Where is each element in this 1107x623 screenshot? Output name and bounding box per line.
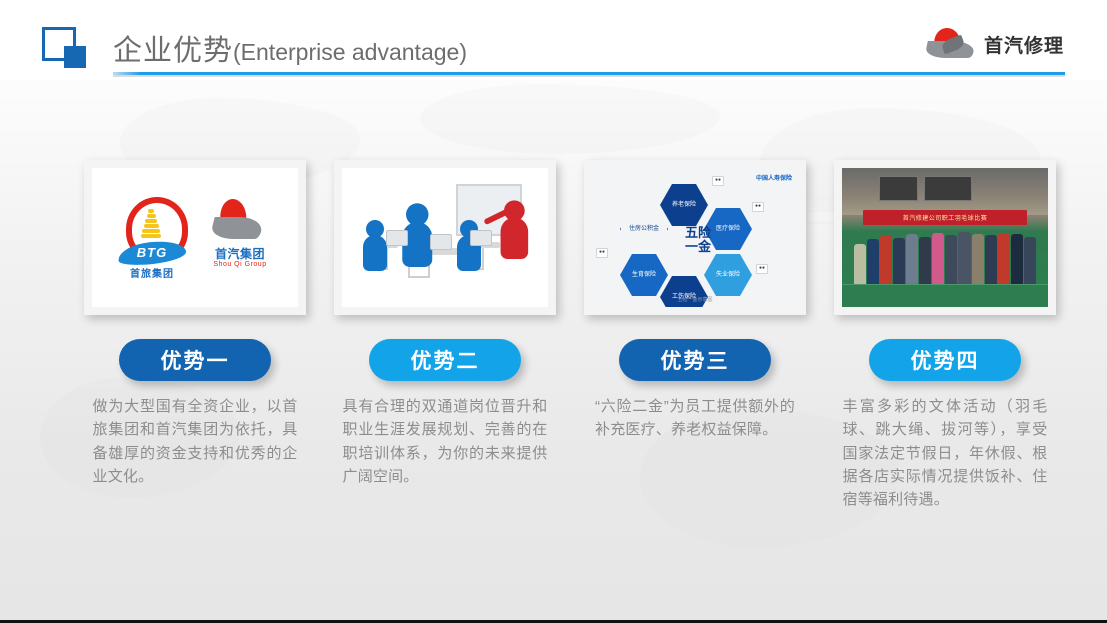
figure-student-2 bbox=[406, 203, 432, 267]
advantage-column-3: 中国人寿保险 住房公积金 养老保险 医疗保险 生育保险 bbox=[570, 160, 820, 442]
btg-cn-text: 首旅集团 bbox=[114, 265, 190, 280]
advantage-columns: BTG 首旅集团 首汽集团 Shou Qi Group 优势一 做为大型国有全资… bbox=[0, 160, 1107, 620]
event-banner: 首汽修建公司职工羽毛球比赛 bbox=[863, 210, 1028, 225]
brand-name: 首汽修理 bbox=[984, 31, 1064, 58]
hex-housing-fund: 住房公积金 bbox=[620, 208, 668, 250]
hex-center-label: 五险 一金 bbox=[670, 214, 726, 266]
header-underline-shadow bbox=[113, 75, 1065, 77]
page-title: 企业优势(Enterprise advantage) bbox=[113, 27, 467, 69]
photo-frame-1: BTG 首旅集团 首汽集团 Shou Qi Group bbox=[84, 160, 306, 315]
hex-footnote: 五险一金示意图 bbox=[592, 296, 798, 303]
shouqi-cn-text: 首汽集团 bbox=[204, 245, 276, 262]
btg-and-shouqi-group-logos-image: BTG 首旅集团 首汽集团 Shou Qi Group bbox=[92, 168, 298, 307]
advantage-body-1: 做为大型国有全资企业，以首旅集团和首汽集团为依托，具备雄厚的资金支持和优秀的企业… bbox=[93, 395, 298, 488]
advantage-body-3: “六险二金”为员工提供额外的补充医疗、养老权益保障。 bbox=[595, 395, 795, 442]
advantage-badge-4: 优势四 bbox=[869, 339, 1021, 381]
two-squares-icon bbox=[42, 27, 86, 69]
shouqi-group-logo: 首汽集团 Shou Qi Group bbox=[204, 195, 276, 281]
advantage-body-4: 丰富多彩的文体活动（羽毛球、跳大绳、拔河等），享受国家法定节假日，年休假、根据各… bbox=[843, 395, 1048, 511]
insurance-brand-text: 中国人寿保险 bbox=[756, 173, 792, 182]
btg-logo: BTG 首旅集团 bbox=[114, 195, 190, 281]
photo-frame-4: 首汽修建公司职工羽毛球比赛 bbox=[834, 160, 1056, 315]
page-title-en: (Enterprise advantage) bbox=[233, 39, 467, 65]
badminton-group-photo-image: 首汽修建公司职工羽毛球比赛 bbox=[842, 168, 1048, 307]
advantage-badge-2: 优势二 bbox=[369, 339, 521, 381]
training-classroom-image bbox=[342, 168, 548, 307]
five-insurances-one-fund-image: 中国人寿保险 住房公积金 养老保险 医疗保险 生育保险 bbox=[592, 168, 798, 307]
shouqi-sun-swoosh-logo-icon bbox=[926, 28, 974, 60]
photo-frame-2 bbox=[334, 160, 556, 315]
advantage-body-2: 具有合理的双通道岗位晋升和职业生涯发展规划、完善的在职培训体系，为你的未来提供广… bbox=[343, 395, 548, 488]
photo-frame-3: 中国人寿保险 住房公积金 养老保险 医疗保险 生育保险 bbox=[584, 160, 806, 315]
figure-student-1 bbox=[366, 220, 387, 271]
shouqi-en-text: Shou Qi Group bbox=[204, 261, 276, 268]
advantage-badge-3: 优势三 bbox=[619, 339, 771, 381]
advantage-column-1: BTG 首旅集团 首汽集团 Shou Qi Group 优势一 做为大型国有全资… bbox=[70, 160, 320, 488]
advantage-column-4: 首汽修建公司职工羽毛球比赛 bbox=[820, 160, 1070, 511]
slide: 企业优势(Enterprise advantage) 首汽修理 bbox=[0, 0, 1107, 623]
advantage-badge-1: 优势一 bbox=[119, 339, 271, 381]
slide-header: 企业优势(Enterprise advantage) 首汽修理 bbox=[0, 0, 1107, 80]
btg-abbr-text: BTG bbox=[128, 245, 176, 260]
brand-lockup: 首汽修理 bbox=[926, 28, 1064, 60]
figure-instructor bbox=[504, 200, 528, 259]
group-of-people bbox=[854, 226, 1035, 290]
hex-maternity: 生育保险 bbox=[620, 254, 668, 296]
page-title-cn: 企业优势 bbox=[113, 35, 233, 67]
advantage-column-2: 优势二 具有合理的双通道岗位晋升和职业生涯发展规划、完善的在职培训体系，为你的未… bbox=[320, 160, 570, 488]
